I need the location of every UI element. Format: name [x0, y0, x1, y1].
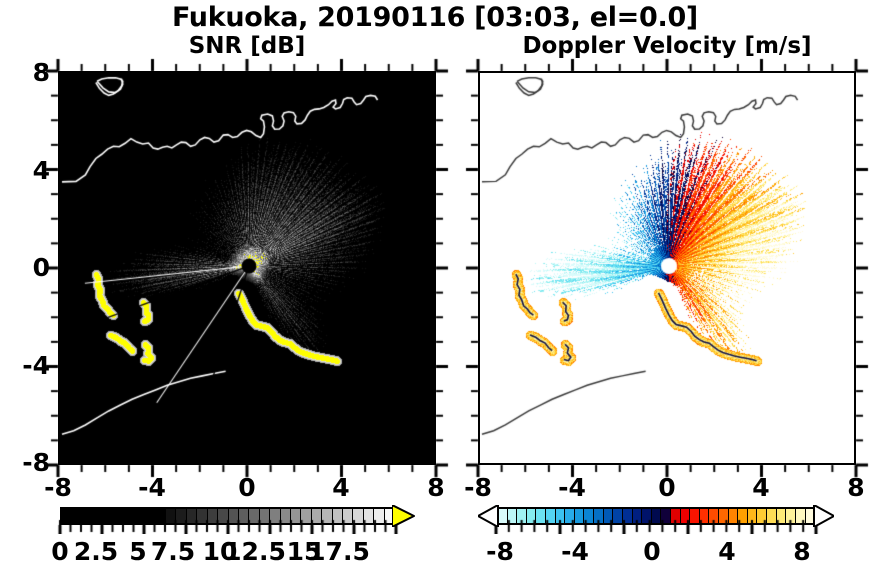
doppler-cbar-label-4: 8: [772, 537, 832, 566]
x-tick-label-snr-1: -4: [122, 473, 182, 502]
x-tick-label-doppler-0: -8: [448, 473, 508, 502]
snr-colorbar-arrow-icon: [392, 505, 416, 527]
x-tick-label-snr-3: 4: [311, 473, 371, 502]
doppler-cbar-label-3: 4: [697, 537, 757, 566]
y-tick-label-snr-1: 4: [0, 156, 50, 185]
y-tick-label-snr-0: 8: [0, 58, 50, 87]
doppler-colorbar-ticks: [470, 500, 850, 534]
x-tick-label-doppler-3: 4: [731, 473, 791, 502]
doppler-cbar-label-2: 0: [622, 537, 682, 566]
doppler-colorbar-arrow-right-icon: [812, 505, 834, 527]
doppler-colorbar-arrow-left-icon: [478, 505, 500, 527]
doppler-cbar-label-0: -8: [470, 537, 530, 566]
snr-colorbar-ticks: [40, 500, 430, 534]
x-tick-label-doppler-1: -4: [542, 473, 602, 502]
snr-cbar-label-7: 17.5: [306, 537, 372, 566]
x-tick-label-doppler-4: 8: [826, 473, 870, 502]
x-tick-label-snr-0: -8: [28, 473, 88, 502]
y-tick-label-snr-2: 0: [0, 253, 50, 282]
doppler-cbar-label-1: -4: [545, 537, 605, 566]
x-tick-label-snr-2: 0: [217, 473, 277, 502]
x-tick-label-doppler-2: 0: [637, 473, 697, 502]
y-tick-label-snr-3: -4: [0, 351, 50, 380]
